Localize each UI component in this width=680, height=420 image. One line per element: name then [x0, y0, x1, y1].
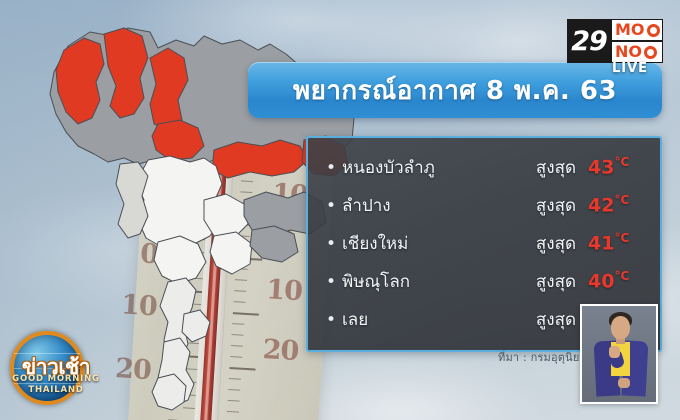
- interpreter-head: [611, 316, 630, 339]
- logo-letters-mo: MO: [615, 22, 645, 38]
- max-temp-label: สูงสุด: [492, 192, 576, 219]
- page-title: พยากรณ์อากาศ 8 พ.ค. 63: [293, 70, 617, 111]
- broadcast-screen: 0 10 0 10 20 30 20 10 0 10 20: [0, 0, 680, 420]
- logo-ring-icon: [647, 24, 660, 37]
- max-temp-value: 43°C: [588, 155, 629, 178]
- interpreter-hand-raised: [609, 346, 620, 358]
- province-name: ลำปาง: [342, 192, 492, 219]
- logo-number-29: 29: [567, 19, 611, 63]
- province-name: พิษณุโลก: [342, 268, 492, 295]
- bullet-icon: •: [326, 274, 342, 291]
- province-name: หนองบัวลำภู: [342, 154, 492, 181]
- max-temp-label: สูงสุด: [492, 154, 576, 181]
- forecast-title-banner: พยากรณ์อากาศ 8 พ.ค. 63: [248, 62, 662, 118]
- province-name: เชียงใหม่: [342, 230, 492, 257]
- interpreter-hand-lower: [618, 378, 630, 388]
- program-logo: ข่าวเช้า GOOD MORNING THAILAND: [2, 327, 110, 411]
- province-name: เลย: [342, 306, 492, 333]
- bullet-icon: •: [326, 160, 342, 177]
- max-temp-value: 41°C: [588, 231, 629, 254]
- max-temp-value: 42°C: [588, 193, 629, 216]
- logo-ring-icon: [644, 46, 657, 59]
- bullet-icon: •: [326, 312, 342, 329]
- max-temp-label: สูงสุด: [492, 230, 576, 257]
- bullet-icon: •: [326, 198, 342, 215]
- forecast-row: • ลำปาง สูงสุด 42°C: [326, 192, 646, 230]
- max-temp-label: สูงสุด: [492, 306, 576, 333]
- max-temp-label: สูงสุด: [492, 268, 576, 295]
- program-name-en-line2: THAILAND: [2, 385, 110, 395]
- live-badge: LIVE: [612, 61, 648, 76]
- sign-language-interpreter-inset: [580, 304, 658, 404]
- channel-logo: MO 29 NO: [567, 19, 663, 63]
- logo-cell-mo: MO: [611, 19, 663, 41]
- forecast-row: • เชียงใหม่ สูงสุด 41°C: [326, 230, 646, 268]
- logo-cell-no: NO: [611, 41, 663, 63]
- forecast-row: • หนองบัวลำภู สูงสุด 43°C: [326, 154, 646, 192]
- program-name-en-line1: GOOD MORNING: [2, 374, 110, 384]
- logo-letters-no: NO: [615, 44, 642, 60]
- max-temp-value: 40°C: [588, 269, 629, 292]
- forecast-row: • พิษณุโลก สูงสุด 40°C: [326, 268, 646, 306]
- bullet-icon: •: [326, 236, 342, 253]
